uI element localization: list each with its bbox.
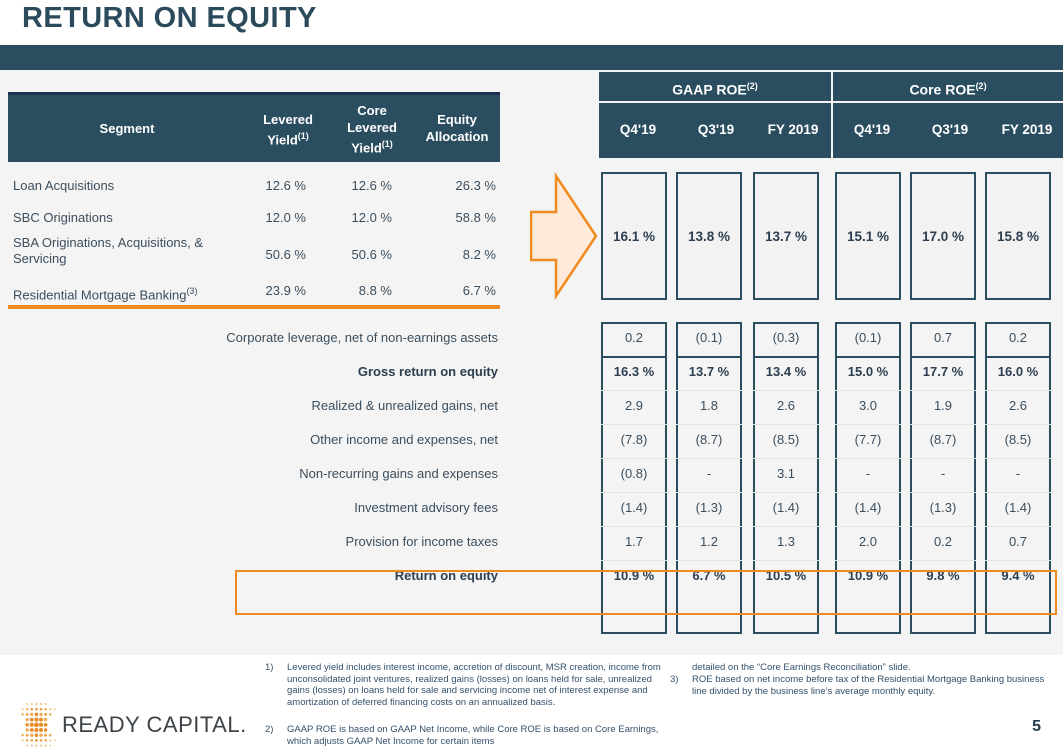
reconciliation-cell: 1.2 xyxy=(676,534,742,549)
segment-name: Loan Acquisitions xyxy=(13,178,248,194)
reconciliation-cell: 0.2 xyxy=(910,534,976,549)
footnote-1: 1) Levered yield includes interest incom… xyxy=(265,662,665,708)
row-separator xyxy=(985,458,1051,459)
row-separator xyxy=(676,390,742,391)
header-levered-yield-label: Levered Yield xyxy=(263,112,313,147)
row-separator xyxy=(676,424,742,425)
row-separator xyxy=(601,458,667,459)
header-equity-line1: Equity xyxy=(437,112,477,127)
highlight-box-gaap-q4: 16.1 % xyxy=(601,172,667,300)
reconciliation-cell: 3.0 xyxy=(835,398,901,413)
footnote-3-number: 3) xyxy=(670,674,692,697)
row-separator xyxy=(985,560,1051,561)
reconciliation-cell: (1.3) xyxy=(910,500,976,515)
page-title-text: RETURN ON EQUITY xyxy=(22,2,317,34)
header-core-line3: Yield xyxy=(351,140,382,155)
reconciliation-cell: (7.8) xyxy=(601,432,667,447)
highlight-box-core-q3: 17.0 % xyxy=(910,172,976,300)
group-header-core-label: Core ROE xyxy=(909,82,975,98)
reconciliation-cell: (1.4) xyxy=(753,500,819,515)
period-header-gaap-q3: Q3'19 xyxy=(679,122,753,137)
group-header-gaap-roe: GAAP ROE(2) xyxy=(599,72,831,101)
row-separator xyxy=(676,526,742,527)
row-separator xyxy=(601,424,667,425)
segment-table-underline xyxy=(8,305,500,309)
return-on-equity-highlight-box xyxy=(235,570,1057,615)
reconciliation-cell: 1.7 xyxy=(601,534,667,549)
period-header-gaap-fy: FY 2019 xyxy=(755,122,831,137)
row-separator xyxy=(601,390,667,391)
reconciliation-row-label: Investment advisory fees xyxy=(150,500,498,515)
page-number: 5 xyxy=(1032,718,1041,736)
segment-equity-allocation: 8.2 % xyxy=(414,247,496,262)
reconciliation-cell: (0.3) xyxy=(753,330,819,345)
segment-name: SBC Originations xyxy=(13,210,248,226)
page-title: RETURN ON EQUITY xyxy=(22,2,317,35)
reconciliation-cell: 15.0 % xyxy=(835,364,901,379)
row-separator xyxy=(753,492,819,493)
footnote-3-text: ROE based on net income before tax of th… xyxy=(692,674,1055,697)
row-separator xyxy=(835,560,901,561)
row-separator xyxy=(985,526,1051,527)
reconciliation-row: Corporate leverage, net of non-earnings … xyxy=(0,322,1063,356)
group-header-core-footnote: (2) xyxy=(976,81,987,91)
reconciliation-cell: 16.0 % xyxy=(985,364,1051,379)
segment-core-levered-yield: 8.8 % xyxy=(330,283,392,298)
row-separator xyxy=(835,458,901,459)
reconciliation-cell: (1.4) xyxy=(601,500,667,515)
group-header-gaap-label: GAAP ROE xyxy=(672,82,746,98)
group-header-core-roe: Core ROE(2) xyxy=(833,72,1063,101)
segment-equity-allocation: 26.3 % xyxy=(414,178,496,193)
header-levered-yield: Levered Yield(1) xyxy=(246,111,330,148)
segment-core-levered-yield: 50.6 % xyxy=(330,247,392,262)
footnote-2-continuation: detailed on the “Core Earnings Reconcili… xyxy=(670,662,1055,674)
reconciliation-cell: (8.5) xyxy=(985,432,1051,447)
period-header-gaap-q4: Q4'19 xyxy=(601,122,675,137)
footnote-2: 2) GAAP ROE is based on GAAP Net Income,… xyxy=(265,724,665,747)
header-core-levered-yield: Core Levered Yield(1) xyxy=(330,102,414,156)
row-separator xyxy=(910,390,976,391)
reconciliation-row: Gross return on equity16.3 %13.7 %13.4 %… xyxy=(0,356,1063,390)
period-header-core-q4: Q4'19 xyxy=(835,122,909,137)
segment-levered-yield: 23.9 % xyxy=(246,283,306,298)
footnote-2-text: GAAP ROE is based on GAAP Net Income, wh… xyxy=(287,724,665,747)
segment-name-footnote: (3) xyxy=(186,286,197,296)
row-separator xyxy=(753,458,819,459)
reconciliation-cell: 2.9 xyxy=(601,398,667,413)
reconciliation-cell: 13.4 % xyxy=(753,364,819,379)
row-separator xyxy=(835,526,901,527)
row-separator xyxy=(910,560,976,561)
reconciliation-row-label: Non-recurring gains and expenses xyxy=(150,466,498,481)
highlight-box-core-q4: 15.1 % xyxy=(835,172,901,300)
reconciliation-cell: (0.1) xyxy=(676,330,742,345)
title-divider-bar xyxy=(0,45,1063,70)
segment-core-levered-yield: 12.0 % xyxy=(330,210,392,225)
header-equity-line2: Allocation xyxy=(426,129,489,144)
header-core-line1: Core xyxy=(357,103,387,118)
segment-name-text: Residential Mortgage Banking xyxy=(13,287,186,302)
reconciliation-row-label: Provision for income taxes xyxy=(150,534,498,549)
reconciliation-cell: 3.1 xyxy=(753,466,819,481)
reconciliation-row-label: Corporate leverage, net of non-earnings … xyxy=(150,330,498,345)
reconciliation-cell: (8.7) xyxy=(910,432,976,447)
reconciliation-cell: - xyxy=(676,466,742,481)
reconciliation-cell: 13.7 % xyxy=(676,364,742,379)
reconciliation-row: Non-recurring gains and expenses(0.8)-3.… xyxy=(0,458,1063,492)
row-separator xyxy=(601,526,667,527)
segment-levered-yield: 12.0 % xyxy=(246,210,306,225)
header-equity-allocation: Equity Allocation xyxy=(414,111,500,145)
row-separator xyxy=(910,424,976,425)
reconciliation-cell: 0.2 xyxy=(985,330,1051,345)
reconciliation-cell: 2.6 xyxy=(753,398,819,413)
period-header-core-fy: FY 2019 xyxy=(989,122,1063,137)
row-separator xyxy=(910,458,976,459)
row-separator xyxy=(835,424,901,425)
reconciliation-cell: 0.7 xyxy=(985,534,1051,549)
segment-equity-allocation: 58.8 % xyxy=(414,210,496,225)
reconciliation-row: Investment advisory fees(1.4)(1.3)(1.4)(… xyxy=(0,492,1063,526)
row-separator xyxy=(753,390,819,391)
footnote-1-text: Levered yield includes interest income, … xyxy=(287,662,665,708)
highlight-box-core-fy: 15.8 % xyxy=(985,172,1051,300)
right-arrow-icon xyxy=(530,172,598,300)
row-separator xyxy=(676,560,742,561)
period-header-core: Q4'19 Q3'19 FY 2019 xyxy=(833,103,1063,158)
reconciliation-cell: (0.1) xyxy=(835,330,901,345)
footnote-2-continuation-number xyxy=(670,662,692,674)
reconciliation-cell: (1.4) xyxy=(985,500,1051,515)
row-separator xyxy=(753,560,819,561)
reconciliation-cell: - xyxy=(985,466,1051,481)
reconciliation-cell: 16.3 % xyxy=(601,364,667,379)
header-core-line2: Levered xyxy=(347,120,397,135)
reconciliation-cell: 0.2 xyxy=(601,330,667,345)
reconciliation-cell: 1.3 xyxy=(753,534,819,549)
row-separator xyxy=(835,390,901,391)
highlight-box-gaap-fy: 13.7 % xyxy=(753,172,819,300)
reconciliation-row: Other income and expenses, net(7.8)(8.7)… xyxy=(0,424,1063,458)
header-core-footnote: (1) xyxy=(382,139,393,149)
reconciliation-cell: (8.7) xyxy=(676,432,742,447)
row-separator xyxy=(601,492,667,493)
highlight-box-gaap-q3: 13.8 % xyxy=(676,172,742,300)
reconciliation-cell: 0.7 xyxy=(910,330,976,345)
reconciliation-cell: - xyxy=(835,466,901,481)
row-separator xyxy=(910,492,976,493)
period-header-gaap: Q4'19 Q3'19 FY 2019 xyxy=(599,103,831,158)
reconciliation-cell: 17.7 % xyxy=(910,364,976,379)
segment-levered-yield: 50.6 % xyxy=(246,247,306,262)
reconciliation-cell: (8.5) xyxy=(753,432,819,447)
reconciliation-row-label: Realized & unrealized gains, net xyxy=(150,398,498,413)
row-separator xyxy=(753,424,819,425)
header-segment: Segment xyxy=(8,120,246,137)
reconciliation-row: Realized & unrealized gains, net2.91.82.… xyxy=(0,390,1063,424)
reconciliation-cell: (7.7) xyxy=(835,432,901,447)
segment-levered-yield: 12.6 % xyxy=(246,178,306,193)
reconciliation-cell: 1.9 xyxy=(910,398,976,413)
row-separator xyxy=(985,492,1051,493)
header-levered-yield-footnote: (1) xyxy=(298,131,309,141)
reconciliation-cell: 1.8 xyxy=(676,398,742,413)
reconciliation-cell: (1.4) xyxy=(835,500,901,515)
row-separator xyxy=(835,492,901,493)
reconciliation-cell: 2.6 xyxy=(985,398,1051,413)
reconciliation-cell: (1.3) xyxy=(676,500,742,515)
brand-name: READY CAPITAL. xyxy=(62,712,247,738)
row-separator xyxy=(676,492,742,493)
footnote-3: 3) ROE based on net income before tax of… xyxy=(670,674,1055,697)
reconciliation-cell: 2.0 xyxy=(835,534,901,549)
segment-core-levered-yield: 12.6 % xyxy=(330,178,392,193)
reconciliation-row: Provision for income taxes1.71.21.32.00.… xyxy=(0,526,1063,560)
footnote-2-continuation-text: detailed on the “Core Earnings Reconcili… xyxy=(692,662,1055,674)
segment-table-header: Segment Levered Yield(1) Core Levered Yi… xyxy=(8,92,500,162)
row-separator xyxy=(985,424,1051,425)
row-separator xyxy=(753,526,819,527)
row-separator xyxy=(985,390,1051,391)
row-separator xyxy=(676,458,742,459)
segment-name: Residential Mortgage Banking(3) xyxy=(13,283,248,303)
period-header-core-q3: Q3'19 xyxy=(913,122,987,137)
group-header-gaap-footnote: (2) xyxy=(747,81,758,91)
reconciliation-cell: - xyxy=(910,466,976,481)
reconciliation-cell: (0.8) xyxy=(601,466,667,481)
row-separator xyxy=(910,526,976,527)
segment-equity-allocation: 6.7 % xyxy=(414,283,496,298)
row-separator xyxy=(601,560,667,561)
reconciliation-row-label: Other income and expenses, net xyxy=(150,432,498,447)
segment-name: SBA Originations, Acquisitions, & Servic… xyxy=(13,235,248,267)
reconciliation-row-label: Gross return on equity xyxy=(150,364,498,379)
